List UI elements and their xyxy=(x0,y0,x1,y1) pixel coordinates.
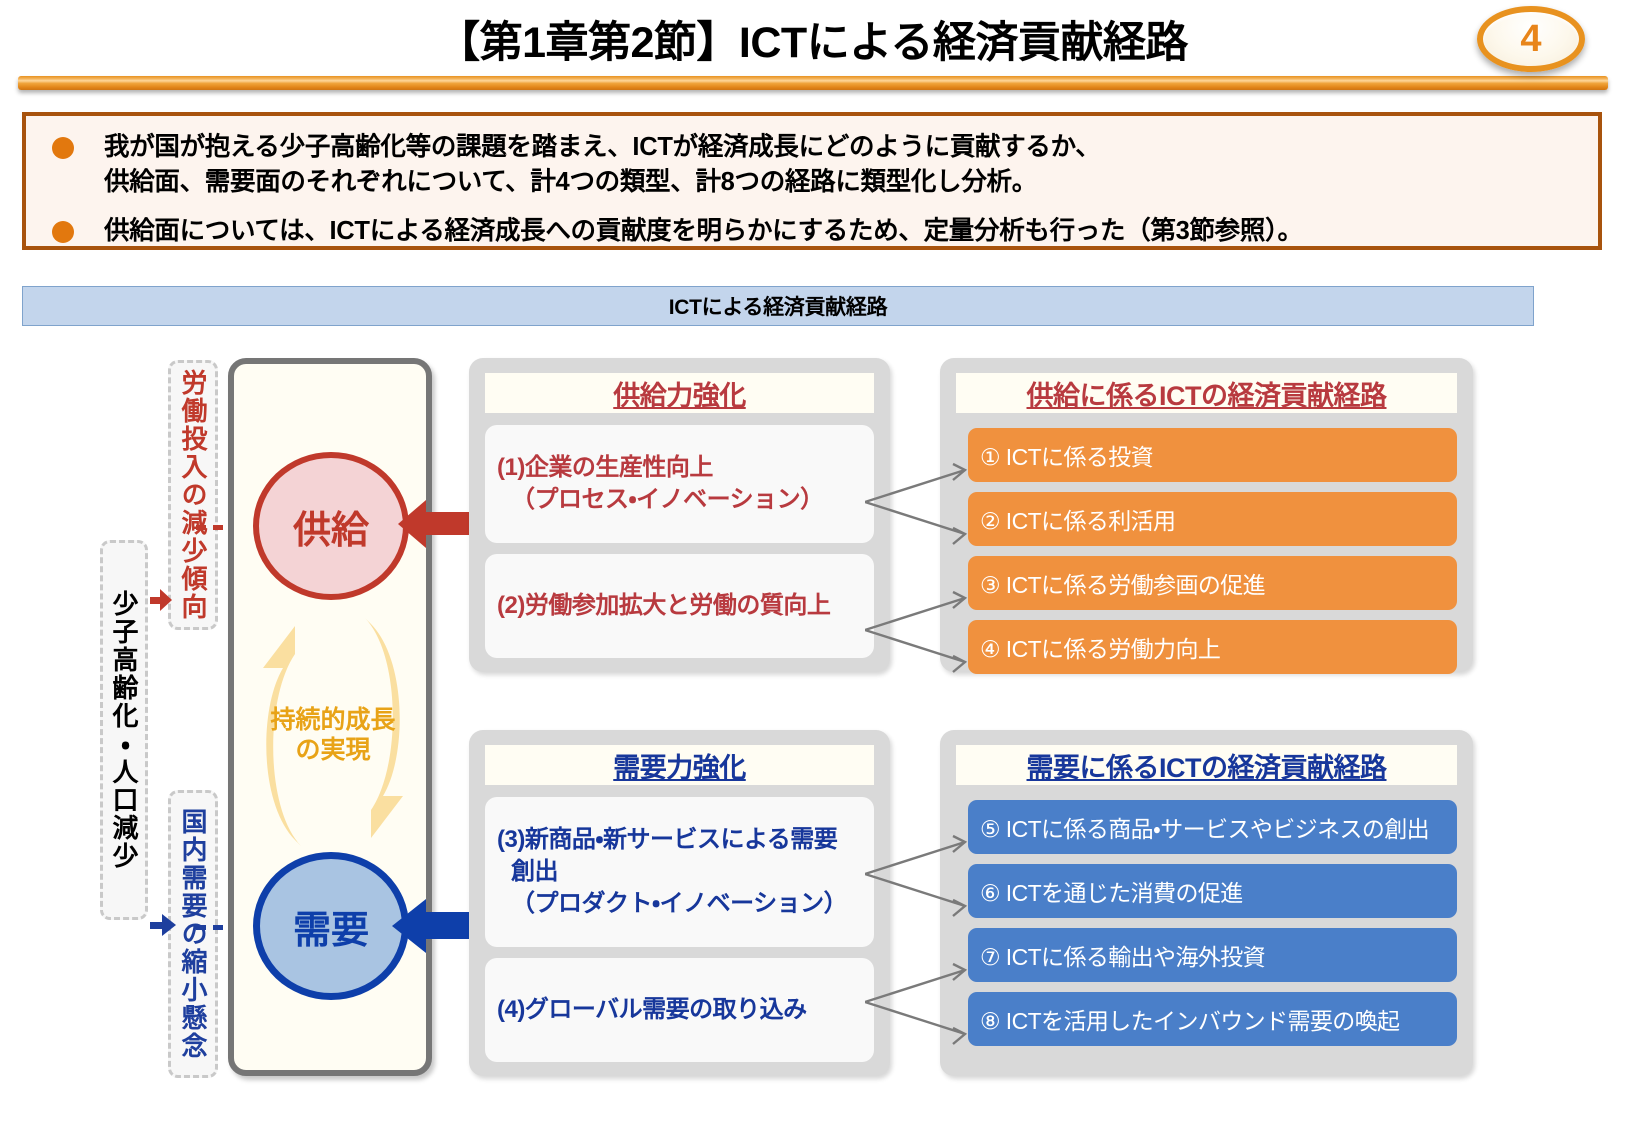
bullet-dot-icon xyxy=(52,137,74,159)
demand-path-item-6: ⑥ ICTを通じた消費の促進 xyxy=(968,864,1457,918)
supply-force-item-2: (2)労働参加拡大と労働の質向上 xyxy=(485,554,874,658)
supply-path-item-4: ④ ICTに係る労働力向上 xyxy=(968,620,1457,674)
cycle-growth-label-line2: の実現 xyxy=(243,735,423,765)
summary-box: 我が国が抱える少子高齢化等の課題を踏まえ、ICTが経済成長にどのように貢献するか… xyxy=(22,112,1602,250)
summary-bullet-row: 我が国が抱える少子高齢化等の課題を踏まえ、ICTが経済成長にどのように貢献するか… xyxy=(26,130,1598,200)
node-demand: 需要 xyxy=(253,852,409,1000)
summary-bullet-text: 供給面については、ICTによる経済成長への貢献度を明らかにするため、定量分析も行… xyxy=(104,214,1303,249)
demand-force-item-3-line2: 創出 xyxy=(497,856,847,888)
supply-path-item-3: ③ ICTに係る労働参画の促進 xyxy=(968,556,1457,610)
demand-force-item-3-line3: （プロダクト・イノベーション） xyxy=(497,888,847,920)
title-divider-bar xyxy=(18,76,1608,90)
demand-path-item-8: ⑧ ICTを活用したインバウンド需要の喚起 xyxy=(968,992,1457,1046)
summary-bullet-row: 供給面については、ICTによる経済成長への貢献度を明らかにするため、定量分析も行… xyxy=(26,214,1598,249)
supply-path-item-1: ① ICTに係る投資 xyxy=(968,428,1457,482)
supply-force-item-1-line1: (1)企業の生産性向上 xyxy=(497,452,824,484)
page-number-value: 4 xyxy=(1520,20,1541,58)
panel-supply-force: 供給力強化 (1)企業の生産性向上 （プロセス・イノベーション） (2)労働参加… xyxy=(469,358,890,672)
demand-force-item-3: (3)新商品・新サービスによる需要 創出 （プロダクト・イノベーション） xyxy=(485,797,874,947)
supply-force-item-1-line2: （プロセス・イノベーション） xyxy=(497,484,824,516)
supply-force-item-2-line1: (2)労働参加拡大と労働の質向上 xyxy=(497,590,830,622)
demand-force-item-4-line1: (4)グローバル需要の取り込み xyxy=(497,994,807,1026)
demand-force-item-3-line1: (3)新商品・新サービスによる需要 xyxy=(497,824,847,856)
page-title: 【第1章第2節】ICTによる経済貢献経路 xyxy=(0,8,1625,70)
section-header-band: ICTによる経済貢献経路 xyxy=(22,286,1534,326)
panel-demand-paths-heading: 需要に係るICTの経済貢献経路 xyxy=(956,745,1457,785)
demand-force-item-4: (4)グローバル需要の取り込み xyxy=(485,958,874,1062)
supply-force-item-1: (1)企業の生産性向上 （プロセス・イノベーション） xyxy=(485,425,874,543)
driver-box-labor-decline: 労働投入の減少傾向 xyxy=(168,360,218,630)
cycle-growth-label: 持続的成長 の実現 xyxy=(243,705,423,765)
panel-supply-force-heading: 供給力強化 xyxy=(485,373,874,413)
panel-demand-force-heading: 需要力強化 xyxy=(485,745,874,785)
cycle-growth-label-line1: 持続的成長 xyxy=(243,705,423,735)
panel-supply-paths: 供給に係るICTの経済貢献経路 ① ICTに係る投資 ② ICTに係る利活用 ③… xyxy=(940,358,1473,672)
panel-demand-force: 需要力強化 (3)新商品・新サービスによる需要 創出 （プロダクト・イノベーショ… xyxy=(469,730,890,1076)
demand-path-item-7: ⑦ ICTに係る輸出や海外投資 xyxy=(968,928,1457,982)
page-number-badge: 4 xyxy=(1477,6,1585,72)
demand-path-item-5: ⑤ ICTに係る商品・サービスやビジネスの創出 xyxy=(968,800,1457,854)
supply-path-item-2: ② ICTに係る利活用 xyxy=(968,492,1457,546)
summary-bullet-text: 我が国が抱える少子高齢化等の課題を踏まえ、ICTが経済成長にどのように貢献するか… xyxy=(104,130,1101,200)
node-supply: 供給 xyxy=(253,452,409,600)
panel-demand-paths: 需要に係るICTの経済貢献経路 ⑤ ICTに係る商品・サービスやビジネスの創出 … xyxy=(940,730,1473,1076)
driver-box-aging: 少子高齢化・人口減少 xyxy=(100,540,148,920)
panel-supply-paths-heading: 供給に係るICTの経済貢献経路 xyxy=(956,373,1457,413)
bullet-dot-icon xyxy=(52,221,74,243)
